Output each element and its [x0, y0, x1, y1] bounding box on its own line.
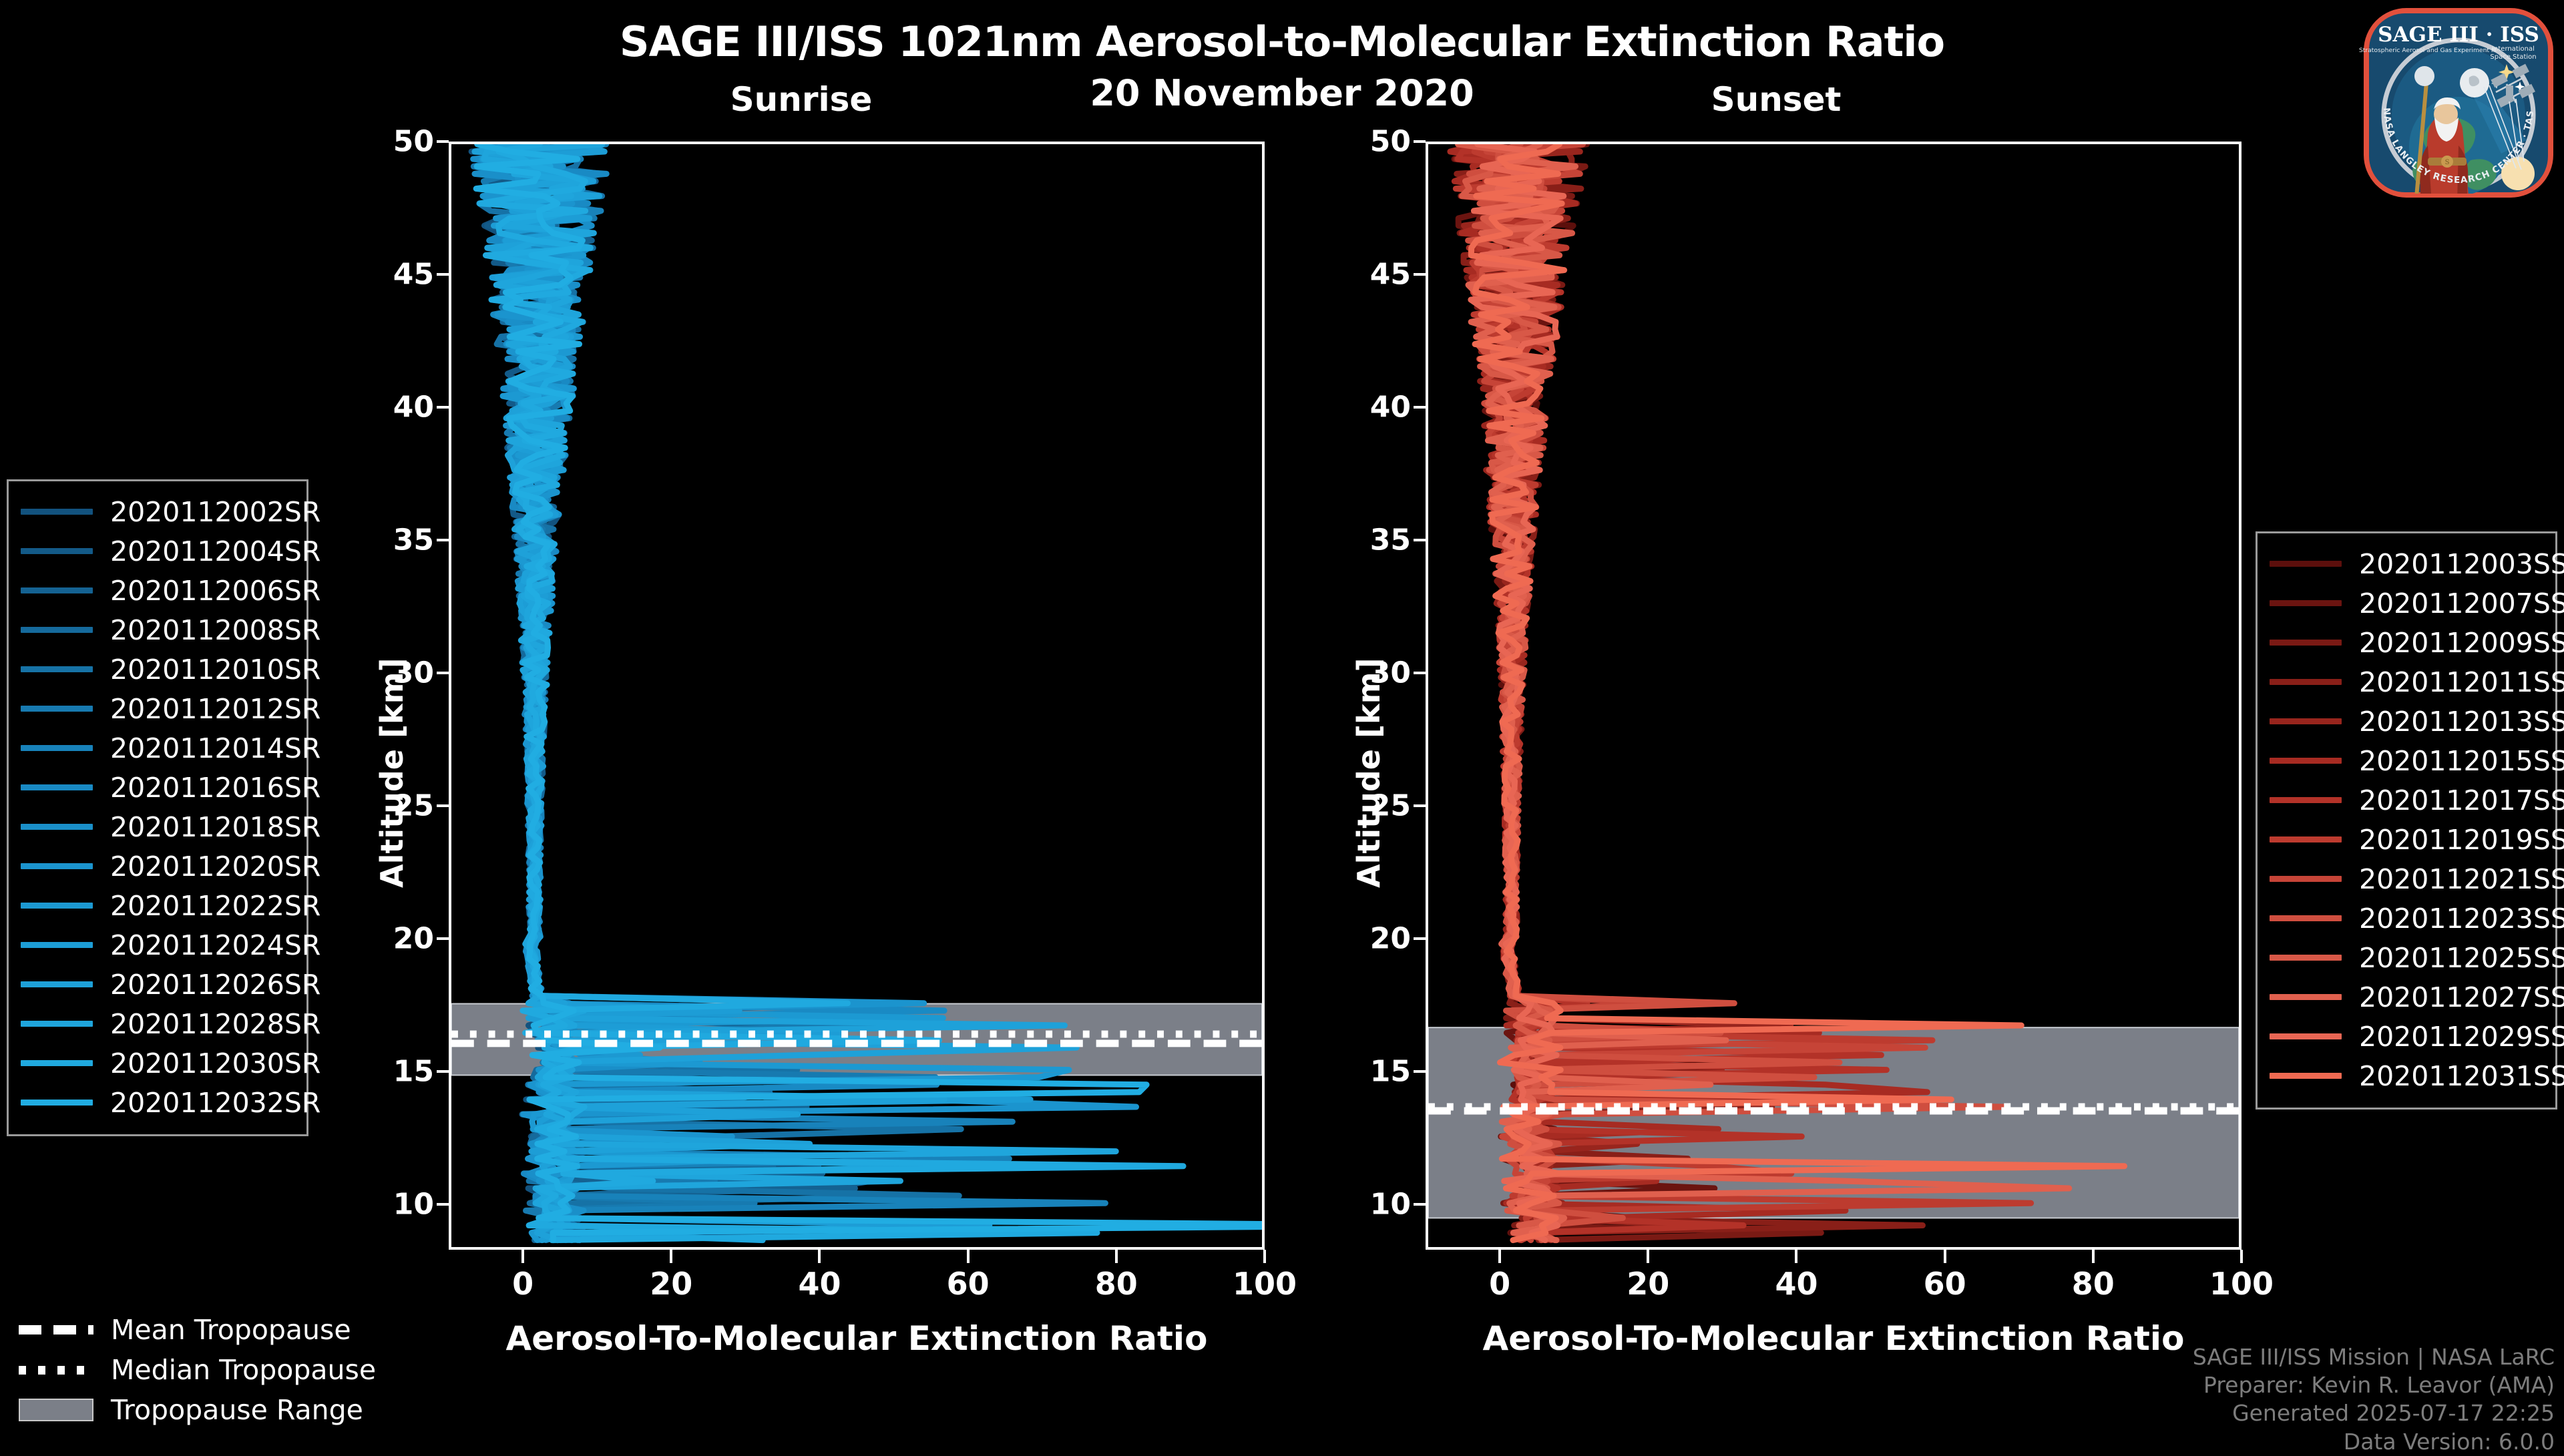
legend-item[interactable]: 2020112023SS: [2270, 899, 2541, 938]
y-axis-tick-label: 40: [1331, 391, 1411, 425]
y-axis-tick-label: 35: [354, 523, 434, 557]
legend-item[interactable]: 2020112027SS: [2270, 977, 2541, 1017]
y-axis-tick-label: 20: [1331, 922, 1411, 956]
sunset-panel-label: Sunset: [1602, 80, 1950, 119]
legend-item[interactable]: 2020112004SR: [21, 531, 292, 571]
legend-item[interactable]: 2020112014SR: [21, 728, 292, 768]
legend-color-swatch-icon: [2270, 1073, 2342, 1079]
legend-item-label: 2020112007SS: [2359, 587, 2564, 620]
y-axis-tick-mark: [1414, 804, 1426, 807]
legend-item-label: 2020112028SR: [110, 1008, 320, 1040]
legend-item-median-tropopause: Median Tropopause: [19, 1350, 393, 1390]
legend-item[interactable]: 2020112032SR: [21, 1083, 292, 1122]
legend-item[interactable]: 2020112018SR: [21, 807, 292, 846]
x-axis-tick-mark: [967, 1250, 970, 1263]
legend-color-swatch-icon: [21, 745, 93, 751]
legend-label-mean-tropopause: Mean Tropopause: [111, 1314, 351, 1346]
legend-item-label: 2020112020SR: [110, 851, 320, 883]
legend-color-swatch-icon: [2270, 640, 2342, 646]
legend-item-label: 2020112027SS: [2359, 981, 2564, 1013]
legend-color-swatch-icon: [21, 863, 93, 869]
y-axis-tick-label: 15: [354, 1055, 434, 1089]
legend-color-swatch-icon: [21, 784, 93, 790]
x-axis-tick-label: 40: [1775, 1266, 1818, 1302]
x-axis-tick-mark: [1263, 1250, 1266, 1263]
y-axis-tick-mark: [437, 1203, 449, 1206]
x-axis-tick-label: 20: [650, 1266, 692, 1302]
legend-item-label: 2020112016SR: [110, 772, 320, 804]
legend-item[interactable]: 2020112016SR: [21, 768, 292, 807]
x-axis-tick-mark: [2240, 1250, 2243, 1263]
x-axis-tick-label: 20: [1627, 1266, 1669, 1302]
legend-color-swatch-icon: [2270, 561, 2342, 567]
legend-color-swatch-icon: [21, 1021, 93, 1027]
legend-item-label: 2020112006SR: [110, 575, 320, 607]
logo-subtitle-right-2: Space Station: [2490, 53, 2536, 61]
y-axis-tick-mark: [437, 406, 449, 409]
sunset-plot-area: [1428, 144, 2239, 1247]
dashed-line-icon: [19, 1325, 93, 1334]
legend-item[interactable]: 2020112029SS: [2270, 1017, 2541, 1056]
legend-label-tropopause-range: Tropopause Range: [111, 1394, 363, 1426]
legend-item-label: 2020112009SS: [2359, 627, 2564, 659]
x-axis-tick-label: 80: [1095, 1266, 1138, 1302]
x-axis-tick-mark: [1115, 1250, 1118, 1263]
legend-item[interactable]: 2020112011SS: [2270, 662, 2541, 702]
x-axis-tick-mark: [1498, 1250, 1501, 1263]
sunrise-plot-panel: [449, 142, 1265, 1250]
x-axis-tick-label: 80: [2072, 1266, 2115, 1302]
sunrise-plot-area: [451, 144, 1262, 1247]
legend-color-swatch-icon: [2270, 915, 2342, 921]
legend-item[interactable]: 2020112013SS: [2270, 702, 2541, 741]
x-axis-tick-mark: [1944, 1250, 1946, 1263]
legend-color-swatch-icon: [2270, 718, 2342, 724]
logo-subtitle-left: Stratospheric Aerosol and Gas Experiment…: [2359, 47, 2497, 54]
credits-line-mission: SAGE III/ISS Mission | NASA LaRC: [2193, 1343, 2555, 1371]
legend-color-swatch-icon: [21, 627, 93, 633]
legend-color-swatch-icon: [2270, 758, 2342, 764]
y-axis-tick-mark: [1414, 1203, 1426, 1206]
legend-item-label: 2020112021SS: [2359, 863, 2564, 895]
legend-item-label: 2020112003SS: [2359, 548, 2564, 580]
x-axis-tick-label: 100: [1233, 1266, 1297, 1302]
legend-color-swatch-icon: [21, 942, 93, 948]
x-axis-tick-label: 60: [947, 1266, 990, 1302]
legend-color-swatch-icon: [2270, 679, 2342, 685]
legend-color-swatch-icon: [2270, 994, 2342, 1000]
legend-color-swatch-icon: [21, 1060, 93, 1066]
y-axis-tick-label: 15: [1331, 1055, 1411, 1089]
y-axis-tick-mark: [1414, 406, 1426, 409]
legend-color-swatch-icon: [2270, 797, 2342, 803]
legend-item-label: 2020112017SS: [2359, 784, 2564, 816]
legend-color-swatch-icon: [21, 548, 93, 554]
x-axis-tick-label: 0: [512, 1266, 533, 1302]
y-axis-tick-mark: [1414, 539, 1426, 541]
legend-item[interactable]: 2020112010SR: [21, 650, 292, 689]
legend-item-label: 2020112018SR: [110, 811, 320, 843]
logo-subtitle-right-1: International: [2492, 45, 2535, 53]
x-axis-tick-label: 40: [798, 1266, 841, 1302]
sunrise-legend[interactable]: 2020112002SR2020112004SR2020112006SR2020…: [7, 479, 308, 1136]
logo-title: SAGE III · ISS: [2378, 23, 2539, 47]
legend-color-swatch-icon: [2270, 836, 2342, 842]
legend-item-label: 2020112015SS: [2359, 745, 2564, 777]
legend-item[interactable]: 2020112031SS: [2270, 1056, 2541, 1096]
legend-color-swatch-icon: [21, 706, 93, 712]
y-axis-tick-mark: [437, 140, 449, 143]
tropopause-legend: Mean Tropopause Median Tropopause Tropop…: [19, 1310, 393, 1430]
legend-item-label: 2020112010SR: [110, 654, 320, 686]
legend-color-swatch-icon: [21, 587, 93, 593]
legend-color-swatch-icon: [21, 666, 93, 672]
legend-item-label: 2020112029SS: [2359, 1021, 2564, 1053]
legend-color-swatch-icon: [21, 981, 93, 987]
y-axis-tick-mark: [1414, 140, 1426, 143]
legend-item-label: 2020112030SR: [110, 1047, 320, 1079]
x-axis-tick-label: 60: [1924, 1266, 1966, 1302]
y-axis-tick-label: 10: [1331, 1188, 1411, 1222]
legend-item[interactable]: 2020112009SS: [2270, 623, 2541, 662]
x-axis-tick-mark: [670, 1250, 672, 1263]
legend-item-tropopause-range: Tropopause Range: [19, 1390, 393, 1430]
legend-item-label: 2020112031SS: [2359, 1060, 2564, 1092]
y-axis-tick-label: 10: [354, 1188, 434, 1222]
y-axis-tick-mark: [1414, 672, 1426, 674]
legend-color-swatch-icon: [21, 1100, 93, 1106]
legend-color-swatch-icon: [2270, 955, 2342, 961]
sunrise-panel-label: Sunrise: [628, 80, 975, 119]
legend-item-label: 2020112019SS: [2359, 824, 2564, 856]
legend-item-label: 2020112008SR: [110, 614, 320, 646]
y-axis-tick-mark: [437, 804, 449, 807]
y-axis-tick-label: 45: [354, 258, 434, 292]
y-axis-tick-mark: [437, 937, 449, 940]
shaded-band-icon: [19, 1399, 93, 1421]
sunset-x-axis-label: Aerosol-To-Molecular Extinction Ratio: [1426, 1319, 2241, 1358]
x-axis-tick-mark: [2092, 1250, 2095, 1263]
y-axis-tick-label: 35: [1331, 523, 1411, 557]
sunrise-y-axis-label: Altitude [km]: [374, 658, 410, 888]
credits-block: SAGE III/ISS Mission | NASA LaRC Prepare…: [2193, 1343, 2555, 1456]
sunset-plot-panel: [1426, 142, 2241, 1250]
date-subtitle: 20 November 2020: [0, 72, 2564, 114]
sunset-legend[interactable]: 2020112003SS2020112007SS2020112009SS2020…: [2256, 531, 2557, 1110]
y-axis-tick-label: 50: [1331, 125, 1411, 159]
legend-label-median-tropopause: Median Tropopause: [111, 1354, 376, 1386]
legend-item[interactable]: 2020112012SR: [21, 689, 292, 728]
legend-item-label: 2020112004SR: [110, 535, 320, 567]
x-axis-tick-mark: [521, 1250, 524, 1263]
y-axis-tick-label: 20: [354, 922, 434, 956]
legend-item[interactable]: 2020112021SS: [2270, 859, 2541, 899]
x-axis-tick-mark: [818, 1250, 821, 1263]
legend-item[interactable]: 2020112015SS: [2270, 741, 2541, 780]
legend-item-label: 2020112023SS: [2359, 903, 2564, 935]
legend-item-label: 2020112026SR: [110, 969, 320, 1001]
y-axis-tick-mark: [437, 273, 449, 276]
legend-item-label: 2020112032SR: [110, 1087, 320, 1119]
y-axis-tick-label: 45: [1331, 258, 1411, 292]
legend-item-mean-tropopause: Mean Tropopause: [19, 1310, 393, 1350]
legend-item[interactable]: 2020112022SR: [21, 886, 292, 925]
sunset-y-axis-label: Altitude [km]: [1351, 658, 1387, 888]
legend-item[interactable]: 2020112008SR: [21, 610, 292, 650]
legend-color-swatch-icon: [2270, 876, 2342, 882]
credits-line-preparer: Preparer: Kevin R. Leavor (AMA): [2193, 1371, 2555, 1399]
x-axis-tick-mark: [1647, 1250, 1649, 1263]
legend-item[interactable]: 2020112006SR: [21, 571, 292, 610]
credits-line-generated: Generated 2025-07-17 22:25: [2193, 1399, 2555, 1427]
x-axis-tick-mark: [1795, 1250, 1797, 1263]
sage-iii-iss-mission-patch-logo: S BALL · NASA LANGLEY RESEARCH CENTER · …: [2358, 3, 2559, 203]
legend-color-swatch-icon: [2270, 1033, 2342, 1039]
legend-item-label: 2020112022SR: [110, 890, 320, 922]
svg-text:S: S: [2445, 159, 2450, 166]
y-axis-tick-mark: [437, 1070, 449, 1073]
legend-item[interactable]: 2020112003SS: [2270, 544, 2541, 583]
legend-item-label: 2020112013SS: [2359, 706, 2564, 738]
legend-item[interactable]: 2020112020SR: [21, 846, 292, 886]
legend-item[interactable]: 2020112024SR: [21, 925, 292, 965]
dotted-line-icon: [19, 1366, 93, 1375]
legend-color-swatch-icon: [21, 824, 93, 830]
legend-color-swatch-icon: [21, 509, 93, 515]
legend-item-label: 2020112025SS: [2359, 942, 2564, 974]
legend-color-swatch-icon: [2270, 600, 2342, 606]
legend-item[interactable]: 2020112017SS: [2270, 780, 2541, 820]
legend-item[interactable]: 2020112025SS: [2270, 938, 2541, 977]
legend-item[interactable]: 2020112030SR: [21, 1043, 292, 1083]
y-axis-tick-label: 40: [354, 391, 434, 425]
x-axis-tick-label: 100: [2209, 1266, 2274, 1302]
legend-item[interactable]: 2020112026SR: [21, 965, 292, 1004]
legend-item-label: 2020112002SR: [110, 496, 320, 528]
legend-item[interactable]: 2020112002SR: [21, 492, 292, 531]
y-axis-tick-mark: [437, 539, 449, 541]
legend-item[interactable]: 2020112007SS: [2270, 583, 2541, 623]
x-axis-tick-label: 0: [1489, 1266, 1510, 1302]
legend-item-label: 2020112024SR: [110, 929, 320, 961]
legend-item[interactable]: 2020112028SR: [21, 1004, 292, 1043]
y-axis-tick-label: 50: [354, 125, 434, 159]
legend-item[interactable]: 2020112019SS: [2270, 820, 2541, 859]
y-axis-tick-mark: [437, 672, 449, 674]
legend-item-label: 2020112011SS: [2359, 666, 2564, 698]
legend-item-label: 2020112014SR: [110, 732, 320, 764]
y-axis-tick-mark: [1414, 273, 1426, 276]
y-axis-tick-mark: [1414, 937, 1426, 940]
y-axis-tick-mark: [1414, 1070, 1426, 1073]
legend-color-swatch-icon: [21, 903, 93, 909]
page-title: SAGE III/ISS 1021nm Aerosol-to-Molecular…: [0, 17, 2564, 66]
sunrise-x-axis-label: Aerosol-To-Molecular Extinction Ratio: [449, 1319, 1265, 1358]
legend-item-label: 2020112012SR: [110, 693, 320, 725]
